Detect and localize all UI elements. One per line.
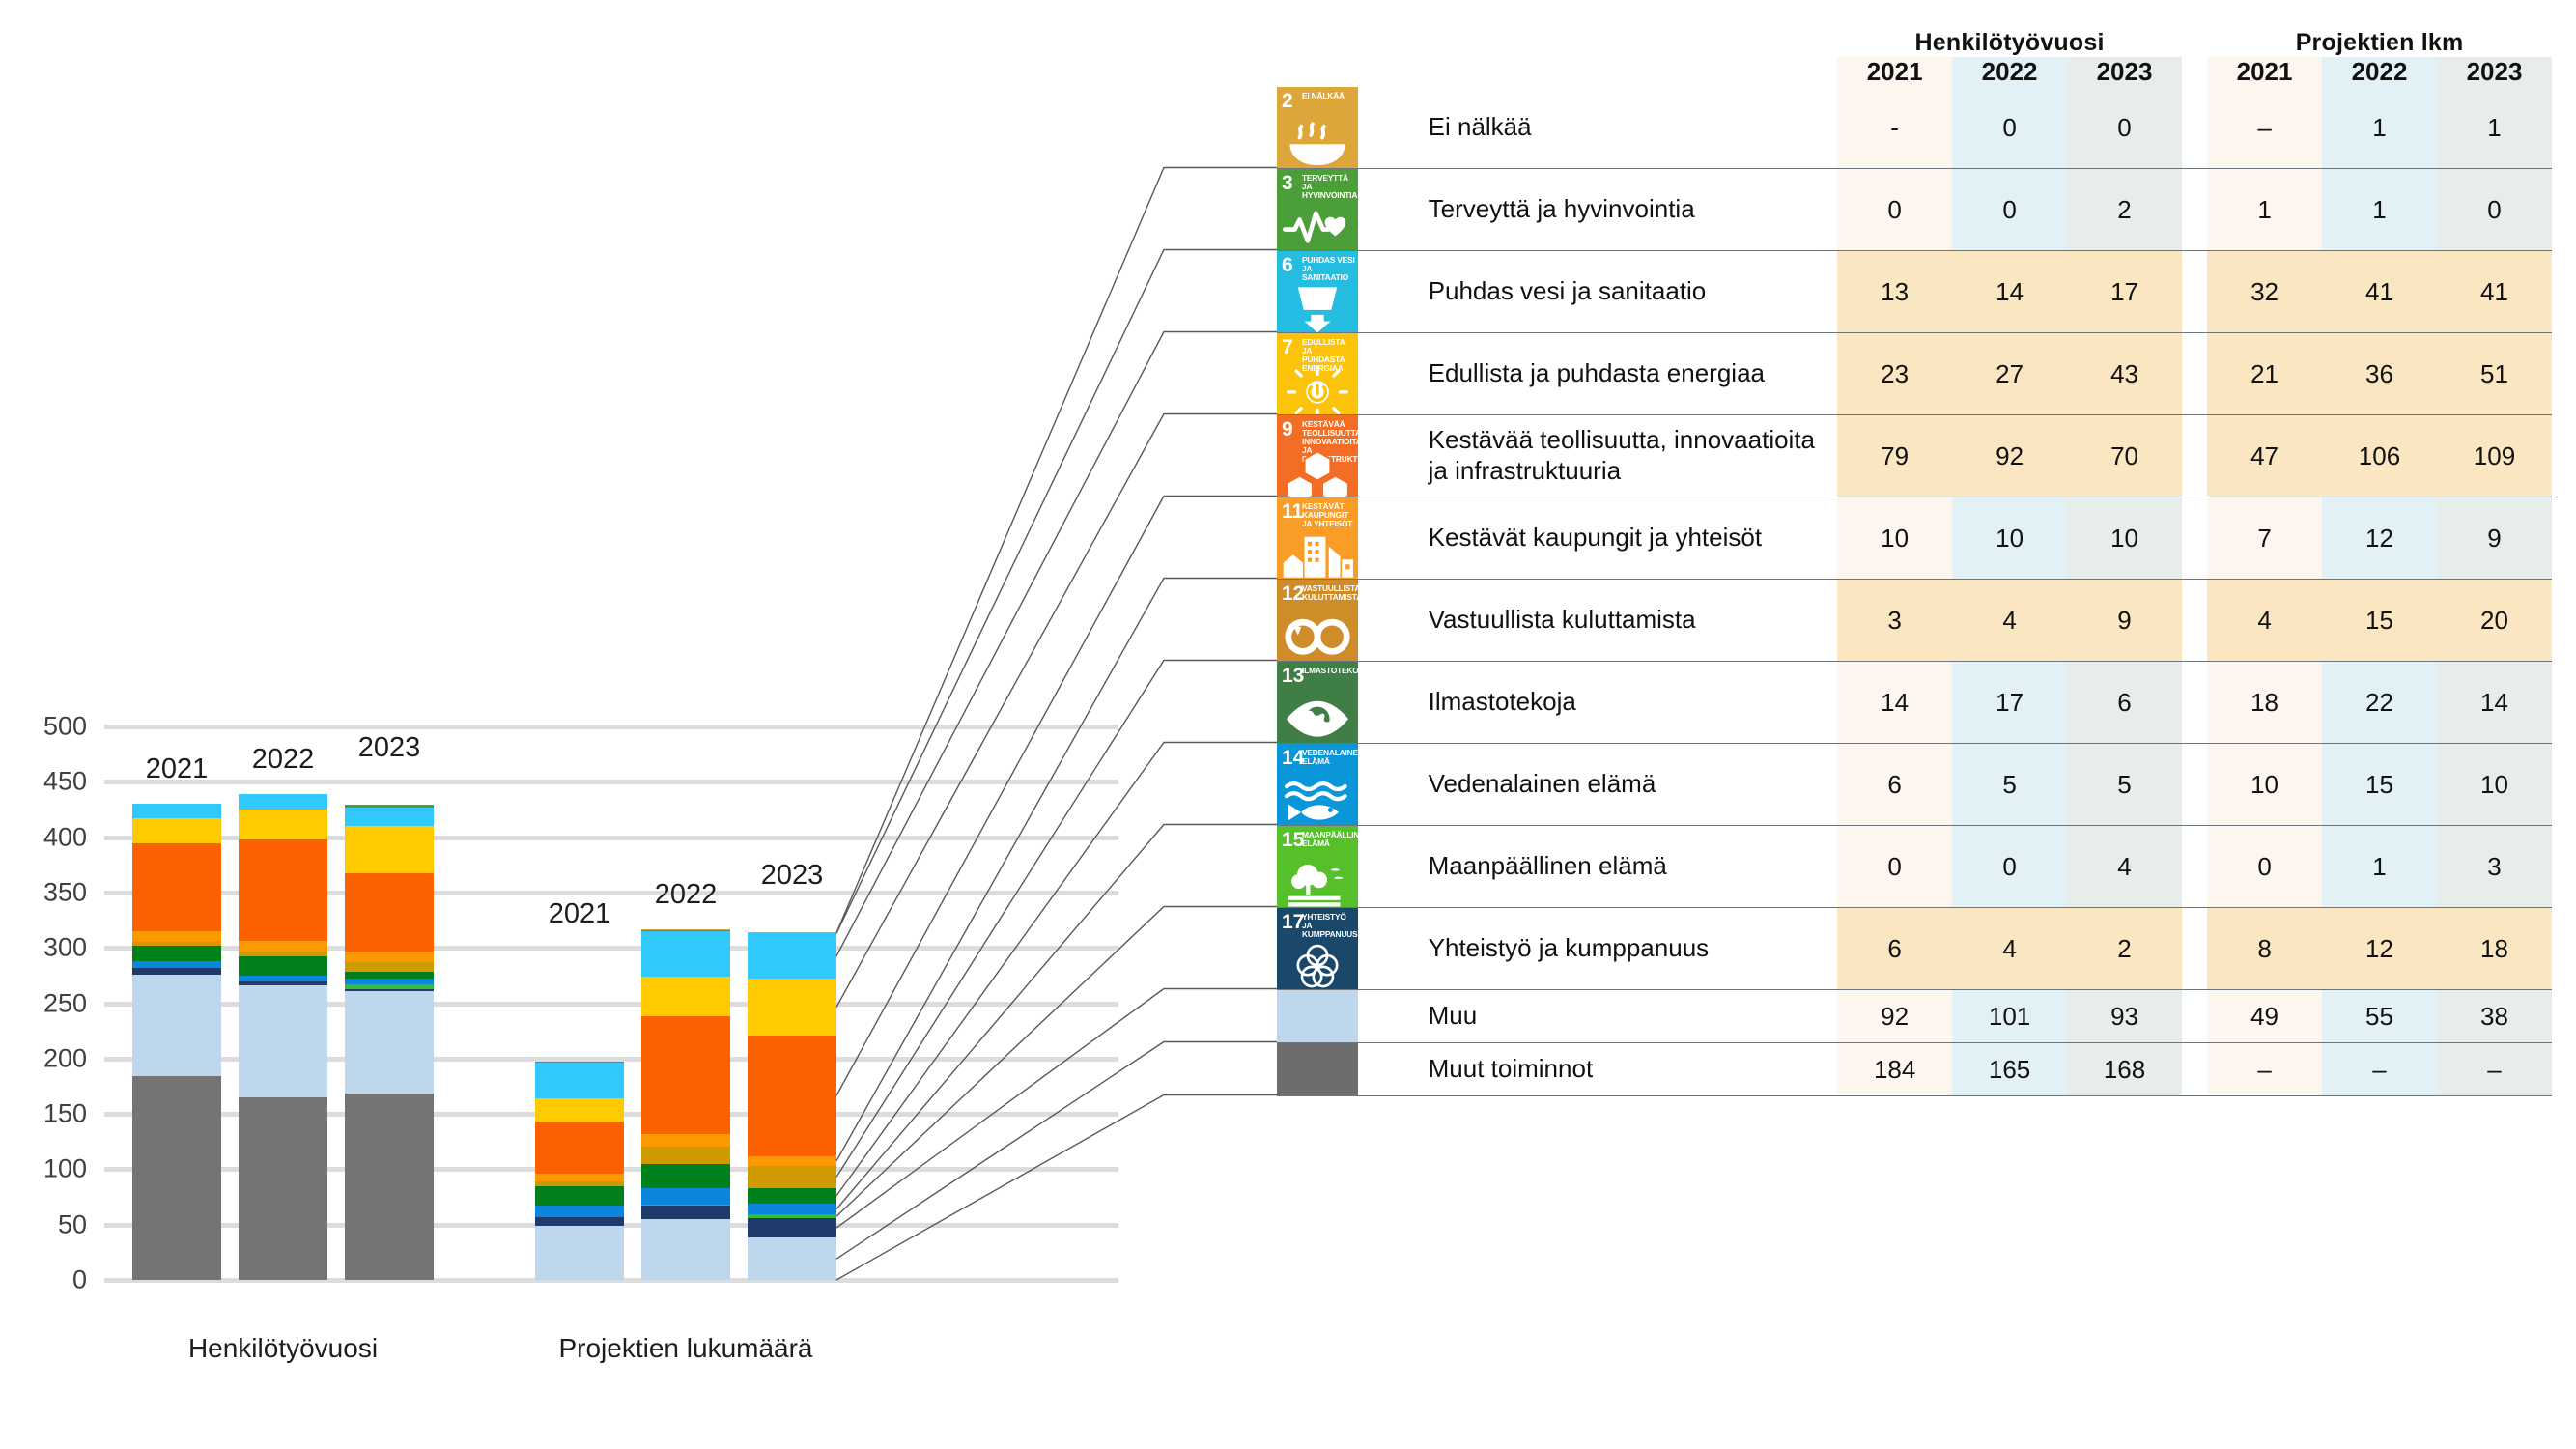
cell-value: 5 (1952, 744, 2067, 826)
cell-value: 10 (1837, 497, 1952, 580)
year-header-projects-2022: 2022 (2322, 57, 2437, 87)
cell-value: 168 (2067, 1043, 2182, 1096)
cell-value: 6 (1837, 908, 1952, 990)
column-gap (2182, 251, 2207, 333)
cell-value: 38 (2437, 990, 2552, 1043)
bar-segment (132, 818, 221, 843)
y-axis-tick-200: 200 (19, 1043, 87, 1073)
cell-value: 92 (1952, 415, 2067, 497)
cell-value: 93 (2067, 990, 2182, 1043)
bar-segment (239, 794, 327, 810)
year-header-spacer-name (1429, 57, 1838, 87)
sdg-number: 13 (1282, 666, 1304, 686)
bar-segment (239, 1097, 327, 1280)
cell-value: 14 (2437, 662, 2552, 744)
sdg-glyph-icon (1277, 530, 1358, 575)
cell-value: 17 (2067, 251, 2182, 333)
bar-segment (535, 1181, 624, 1186)
bar-segment (345, 805, 434, 807)
cell-value: 7 (2207, 497, 2322, 580)
y-axis-tick-50: 50 (19, 1209, 87, 1239)
table-row: 14VEDENALAINEN ELÄMÄVedenalainen elämä65… (1277, 744, 2552, 826)
cell-value: 79 (1837, 415, 1952, 497)
cell-value: 1 (2207, 169, 2322, 251)
sdg-icon-cell: 17YHTEISTYÖ JA KUMPPANUUS (1277, 908, 1429, 990)
column-gap (2182, 826, 2207, 908)
cell-value: 18 (2207, 662, 2322, 744)
cell-value: 10 (2437, 744, 2552, 826)
column-gap (2182, 990, 2207, 1043)
legend-color-swatch (1277, 1043, 1358, 1095)
table-row: 15MAANPÄÄLLINEN ELÄMÄMaanpäällinen elämä… (1277, 826, 2552, 908)
row-label: Vedenalainen elämä (1429, 744, 1838, 826)
y-axis-tick-100: 100 (19, 1154, 87, 1184)
bar-segment (748, 1188, 836, 1204)
cell-value: 1 (2322, 169, 2437, 251)
table-body: 2EI NÄLKÄÄEi nälkää-00–113TERVEYTTÄ JA H… (1277, 87, 2552, 1096)
sdg-7-icon: 7EDULLISTA JA PUHDASTA ENERGIAA (1277, 333, 1358, 414)
plot-area: 202120222023202120222023 (104, 0, 1118, 1449)
bar-segment (641, 1205, 730, 1206)
table-head: Henkilötyövuosi Projektien lkm 202120222… (1277, 29, 2552, 87)
bar-segment (535, 1098, 624, 1122)
cell-value: - (1837, 87, 1952, 169)
row-label: Ilmastotekoja (1429, 662, 1838, 744)
sdg-number: 2 (1282, 91, 1293, 111)
sdg-17-icon: 17YHTEISTYÖ JA KUMPPANUUS (1277, 908, 1358, 989)
bar-segment (535, 1206, 624, 1216)
year-header-hty-2022: 2022 (1952, 57, 2067, 87)
cell-value: 8 (2207, 908, 2322, 990)
cell-value: 101 (1952, 990, 2067, 1043)
bar-segment (748, 1237, 836, 1280)
sdg-number: 7 (1282, 337, 1293, 357)
bar-segment (641, 1016, 730, 1133)
cell-value: – (2322, 1043, 2437, 1096)
sdg-glyph-icon (1277, 612, 1358, 657)
bar-proj-2023 (748, 910, 836, 1280)
cell-value: 1 (2322, 87, 2437, 169)
sdg-summary-table: Henkilötyövuosi Projektien lkm 202120222… (1277, 29, 2552, 1096)
cell-value: 55 (2322, 990, 2437, 1043)
table-row: 13ILMASTOTEKOJAIlmastotekoja14176182214 (1277, 662, 2552, 744)
sdg-15-icon: 15MAANPÄÄLLINEN ELÄMÄ (1277, 826, 1358, 907)
bar-segment (748, 1156, 836, 1166)
row-label: Muut toiminnot (1429, 1043, 1838, 1096)
bar-segment (535, 1063, 624, 1098)
sdg-icon-cell (1277, 990, 1429, 1043)
cell-value: 15 (2322, 580, 2437, 662)
bar-segment (535, 1122, 624, 1174)
cell-value: 0 (1837, 169, 1952, 251)
bar-segment (345, 1094, 434, 1280)
y-axis-tick-500: 500 (19, 712, 87, 742)
y-axis: 500450400350300250200150100500 (19, 0, 87, 1449)
column-gap (2182, 415, 2207, 497)
column-gap (2182, 333, 2207, 415)
sdg-icon-cell: 2EI NÄLKÄÄ (1277, 87, 1429, 169)
column-gap (2182, 580, 2207, 662)
table-row: 12VASTUULLISTA KULUTTAMISTAVastuullista … (1277, 580, 2552, 662)
bar-segment (345, 991, 434, 1094)
bar-hty-2022 (239, 794, 327, 1280)
row-label: Edullista ja puhdasta energiaa (1429, 333, 1838, 415)
bar-segment (239, 981, 327, 986)
bar-segment (345, 984, 434, 989)
sdg-glyph-icon (1277, 202, 1358, 246)
column-gap (2182, 169, 2207, 251)
table-row: 9KESTÄVÄÄ TEOLLISUUTTA, INNOVAATIOITA JA… (1277, 415, 2552, 497)
cell-value: 0 (1952, 87, 2067, 169)
bar-year-label: 2021 (146, 753, 209, 785)
cell-value: 36 (2322, 333, 2437, 415)
cell-value: 184 (1837, 1043, 1952, 1096)
cell-value: 17 (1952, 662, 2067, 744)
sdg-3-icon: 3TERVEYTTÄ JA HYVINVOINTIA (1277, 169, 1358, 250)
cell-value: 92 (1837, 990, 1952, 1043)
bar-segment (239, 976, 327, 981)
bar-segment (345, 952, 434, 962)
cell-value: 5 (2067, 744, 2182, 826)
sdg-glyph-icon (1277, 366, 1358, 411)
column-gap (2182, 1043, 2207, 1096)
sdg-13-icon: 13ILMASTOTEKOJA (1277, 662, 1358, 743)
sdg-icon-title: YHTEISTYÖ JA KUMPPANUUS (1302, 913, 1355, 939)
table-row: Muut toiminnot184165168––– (1277, 1043, 2552, 1096)
bar-segment (345, 989, 434, 991)
bar-segment (535, 1174, 624, 1181)
cell-value: 23 (1837, 333, 1952, 415)
bar-segment (345, 808, 434, 826)
cell-value: 22 (2322, 662, 2437, 744)
bar-segment (345, 873, 434, 951)
row-label: Maanpäällinen elämä (1429, 826, 1838, 908)
bar-segment (641, 1188, 730, 1205)
bar-segment (641, 929, 730, 930)
cell-value: 4 (2207, 580, 2322, 662)
bar-segment (641, 931, 730, 977)
cell-value: 2 (2067, 908, 2182, 990)
bar-segment (239, 839, 327, 941)
bar-segment (641, 1147, 730, 1163)
cell-value: 165 (1952, 1043, 2067, 1096)
bar-segment (748, 1036, 836, 1156)
bar-segment (132, 968, 221, 975)
cell-value: 14 (1837, 662, 1952, 744)
bar-segment (641, 1164, 730, 1188)
cell-value: 10 (2067, 497, 2182, 580)
sdg-icon-title: VASTUULLISTA KULUTTAMISTA (1302, 584, 1355, 602)
group-header-row: Henkilötyövuosi Projektien lkm (1277, 29, 2552, 57)
gridline (104, 780, 1118, 784)
bar-proj-2022 (641, 929, 730, 1280)
bar-segment (641, 977, 730, 1016)
cell-value: 13 (1837, 251, 1952, 333)
bar-segment (239, 952, 327, 957)
cell-value: 2 (2067, 169, 2182, 251)
column-gap (2182, 908, 2207, 990)
table-row: 7EDULLISTA JA PUHDASTA ENERGIAAEdullista… (1277, 333, 2552, 415)
cell-value: 4 (1952, 580, 2067, 662)
cell-value: – (2207, 1043, 2322, 1096)
sdg-6-icon: 6PUHDAS VESI JA SANITAATIO (1277, 251, 1358, 332)
cell-value: 4 (1952, 908, 2067, 990)
cell-value: 1 (2322, 826, 2437, 908)
bar-segment (748, 933, 836, 979)
cell-value: 0 (1952, 169, 2067, 251)
sdg-glyph-icon (1277, 859, 1358, 903)
bar-segment (748, 1204, 836, 1214)
cell-value: 21 (2207, 333, 2322, 415)
cell-value: 27 (1952, 333, 2067, 415)
sdg-glyph-icon (1277, 448, 1358, 493)
sdg-14-icon: 14VEDENALAINEN ELÄMÄ (1277, 744, 1358, 825)
sdg-icon-cell (1277, 1043, 1429, 1096)
year-header-row: 202120222023202120222023 (1277, 57, 2552, 87)
sdg-glyph-icon (1277, 120, 1358, 164)
bar-proj-2021 (535, 949, 624, 1280)
cell-value: – (2437, 1043, 2552, 1096)
sdg-12-icon: 12VASTUULLISTA KULUTTAMISTA (1277, 580, 1358, 661)
table-row: 11KESTÄVÄT KAUPUNGIT JA YHTEISÖTKestävät… (1277, 497, 2552, 580)
cell-value: 6 (2067, 662, 2182, 744)
cell-value: 32 (2207, 251, 2322, 333)
y-axis-tick-400: 400 (19, 822, 87, 852)
sdg-icon-cell: 12VASTUULLISTA KULUTTAMISTA (1277, 580, 1429, 662)
bar-segment (748, 979, 836, 1035)
cell-value: 3 (2437, 826, 2552, 908)
row-label: Puhdas vesi ja sanitaatio (1429, 251, 1838, 333)
cell-value: 0 (1952, 826, 2067, 908)
sdg-icon-title: EI NÄLKÄÄ (1302, 92, 1355, 100)
row-label: Ei nälkää (1429, 87, 1838, 169)
bar-segment (132, 961, 221, 968)
cell-value: 4 (2067, 826, 2182, 908)
legend-color-swatch (1277, 990, 1358, 1042)
bar-segment (132, 975, 221, 1076)
bar-segment (132, 1076, 221, 1280)
bar-year-label: 2023 (358, 732, 421, 764)
bar-segment (239, 941, 327, 952)
cell-value: 41 (2437, 251, 2552, 333)
column-gap (2182, 57, 2207, 87)
cell-value: 1 (2437, 87, 2552, 169)
bar-year-label: 2022 (655, 879, 718, 911)
cell-value: 14 (1952, 251, 2067, 333)
bar-segment (641, 1134, 730, 1148)
year-header-hty-2021: 2021 (1837, 57, 1952, 87)
bar-year-label: 2021 (549, 898, 611, 930)
bar-segment (132, 931, 221, 942)
cell-value: 9 (2437, 497, 2552, 580)
sdg-9-icon: 9KESTÄVÄÄ TEOLLISUUTTA, INNOVAATIOITA JA… (1277, 415, 1358, 497)
sdg-icon-title: KESTÄVÄT KAUPUNGIT JA YHTEISÖT (1302, 502, 1355, 528)
bar-segment (535, 1226, 624, 1280)
bar-segment (239, 985, 327, 1097)
sdg-icon-cell: 6PUHDAS VESI JA SANITAATIO (1277, 251, 1429, 333)
bar-segment (132, 942, 221, 945)
bar-hty-2021 (132, 804, 221, 1280)
bar-segment (132, 804, 221, 818)
table-row: 2EI NÄLKÄÄEi nälkää-00–11 (1277, 87, 2552, 169)
sdg-icon-cell: 3TERVEYTTÄ JA HYVINVOINTIA (1277, 169, 1429, 251)
cell-value: 9 (2067, 580, 2182, 662)
sdg-icon-title: PUHDAS VESI JA SANITAATIO (1302, 256, 1355, 282)
cell-value: 10 (1952, 497, 2067, 580)
row-label: Vastuullista kuluttamista (1429, 580, 1838, 662)
cell-value: 18 (2437, 908, 2552, 990)
sdg-number: 14 (1282, 748, 1304, 768)
row-label: Kestävät kaupungit ja yhteisöt (1429, 497, 1838, 580)
sdg-2-icon: 2EI NÄLKÄÄ (1277, 87, 1358, 168)
sdg-glyph-icon (1277, 777, 1358, 821)
group-header-hty: Henkilötyövuosi (1837, 29, 2182, 57)
bar-segment (132, 843, 221, 931)
year-header-projects-2021: 2021 (2207, 57, 2322, 87)
bar-year-label: 2022 (252, 744, 315, 776)
sdg-icon-cell: 9KESTÄVÄÄ TEOLLISUUTTA, INNOVAATIOITA JA… (1277, 415, 1429, 497)
y-axis-tick-250: 250 (19, 988, 87, 1018)
cell-value: 15 (2322, 744, 2437, 826)
stacked-bar-chart: 500450400350300250200150100500 202120222… (0, 0, 1256, 1449)
cell-value: – (2207, 87, 2322, 169)
bar-segment (641, 1219, 730, 1280)
sdg-glyph-icon (1277, 695, 1358, 739)
cell-value: 43 (2067, 333, 2182, 415)
row-label: Muu (1429, 990, 1838, 1043)
bar-segment (535, 1186, 624, 1207)
group-axis-label: Henkilötyövuosi (188, 1333, 378, 1364)
bar-segment (748, 932, 836, 933)
column-gap (2182, 744, 2207, 826)
row-label: Terveyttä ja hyvinvointia (1429, 169, 1838, 251)
cell-value: 10 (2207, 744, 2322, 826)
bar-segment (345, 972, 434, 979)
bar-segment (239, 810, 327, 839)
bar-segment (748, 1214, 836, 1217)
bar-hty-2023 (345, 782, 434, 1280)
bar-segment (345, 962, 434, 972)
bar-segment (345, 979, 434, 984)
sdg-icon-cell: 13ILMASTOTEKOJA (1277, 662, 1429, 744)
row-label: Yhteistyö ja kumppanuus (1429, 908, 1838, 990)
column-gap (2182, 87, 2207, 169)
sdg-glyph-icon (1277, 284, 1358, 328)
gridline (104, 724, 1118, 729)
bar-year-label: 2023 (761, 860, 824, 892)
year-header-projects-2023: 2023 (2437, 57, 2552, 87)
cell-value: 41 (2322, 251, 2437, 333)
cell-value: 70 (2067, 415, 2182, 497)
year-header-spacer-icon (1277, 57, 1429, 87)
bar-segment (345, 826, 434, 873)
cell-value: 3 (1837, 580, 1952, 662)
table-row: 17YHTEISTYÖ JA KUMPPANUUSYhteistyö ja ku… (1277, 908, 2552, 990)
sdg-icon-cell: 15MAANPÄÄLLINEN ELÄMÄ (1277, 826, 1429, 908)
group-axis-label: Projektien lukumäärä (558, 1333, 812, 1364)
cell-value: 47 (2207, 415, 2322, 497)
table-row: 6PUHDAS VESI JA SANITAATIOPuhdas vesi ja… (1277, 251, 2552, 333)
column-gap (2182, 497, 2207, 580)
sdg-icon-title: ILMASTOTEKOJA (1302, 667, 1355, 675)
y-axis-tick-0: 0 (19, 1265, 87, 1295)
sdg-11-icon: 11KESTÄVÄT KAUPUNGIT JA YHTEISÖT (1277, 497, 1358, 579)
cell-value: 0 (1837, 826, 1952, 908)
y-axis-tick-450: 450 (19, 767, 87, 797)
bar-segment (132, 946, 221, 961)
sdg-icon-cell: 7EDULLISTA JA PUHDASTA ENERGIAA (1277, 333, 1429, 415)
cell-value: 106 (2322, 415, 2437, 497)
row-label: Kestävää teollisuutta, innovaatioita ja … (1429, 415, 1838, 497)
cell-value: 109 (2437, 415, 2552, 497)
bar-segment (535, 1062, 624, 1063)
y-axis-tick-300: 300 (19, 933, 87, 963)
sdg-icon-cell: 11KESTÄVÄT KAUPUNGIT JA YHTEISÖT (1277, 497, 1429, 580)
table-row: 3TERVEYTTÄ JA HYVINVOINTIATerveyttä ja h… (1277, 169, 2552, 251)
cell-value: 12 (2322, 908, 2437, 990)
sdg-glyph-icon (1277, 941, 1358, 985)
bar-segment (641, 1206, 730, 1219)
sdg-number: 17 (1282, 912, 1304, 932)
sdg-icon-title: VEDENALAINEN ELÄMÄ (1302, 749, 1355, 766)
cell-value: 0 (2067, 87, 2182, 169)
sdg-number: 15 (1282, 830, 1304, 850)
sdg-number: 9 (1282, 419, 1293, 440)
cell-value: 6 (1837, 744, 1952, 826)
y-axis-tick-350: 350 (19, 877, 87, 907)
sdg-number: 11 (1282, 501, 1303, 522)
year-header-hty-2023: 2023 (2067, 57, 2182, 87)
sdg-icon-cell: 14VEDENALAINEN ELÄMÄ (1277, 744, 1429, 826)
cell-value: 12 (2322, 497, 2437, 580)
sdg-icon-title: MAANPÄÄLLINEN ELÄMÄ (1302, 831, 1355, 848)
bar-segment (535, 1217, 624, 1226)
group-header-projects: Projektien lkm (2207, 29, 2552, 57)
cell-value: 0 (2207, 826, 2322, 908)
bar-segment (239, 956, 327, 975)
cell-value: 49 (2207, 990, 2322, 1043)
column-gap (2182, 662, 2207, 744)
cell-value: 20 (2437, 580, 2552, 662)
bar-segment (748, 1166, 836, 1188)
sdg-number: 6 (1282, 255, 1293, 275)
y-axis-tick-150: 150 (19, 1099, 87, 1129)
bar-segment (748, 1218, 836, 1238)
sdg-number: 12 (1282, 583, 1304, 604)
sdg-number: 3 (1282, 173, 1293, 193)
cell-value: 0 (2437, 169, 2552, 251)
sdg-icon-title: TERVEYTTÄ JA HYVINVOINTIA (1302, 174, 1355, 200)
table-row: Muu9210193495538 (1277, 990, 2552, 1043)
cell-value: 51 (2437, 333, 2552, 415)
bar-segment (641, 930, 730, 931)
